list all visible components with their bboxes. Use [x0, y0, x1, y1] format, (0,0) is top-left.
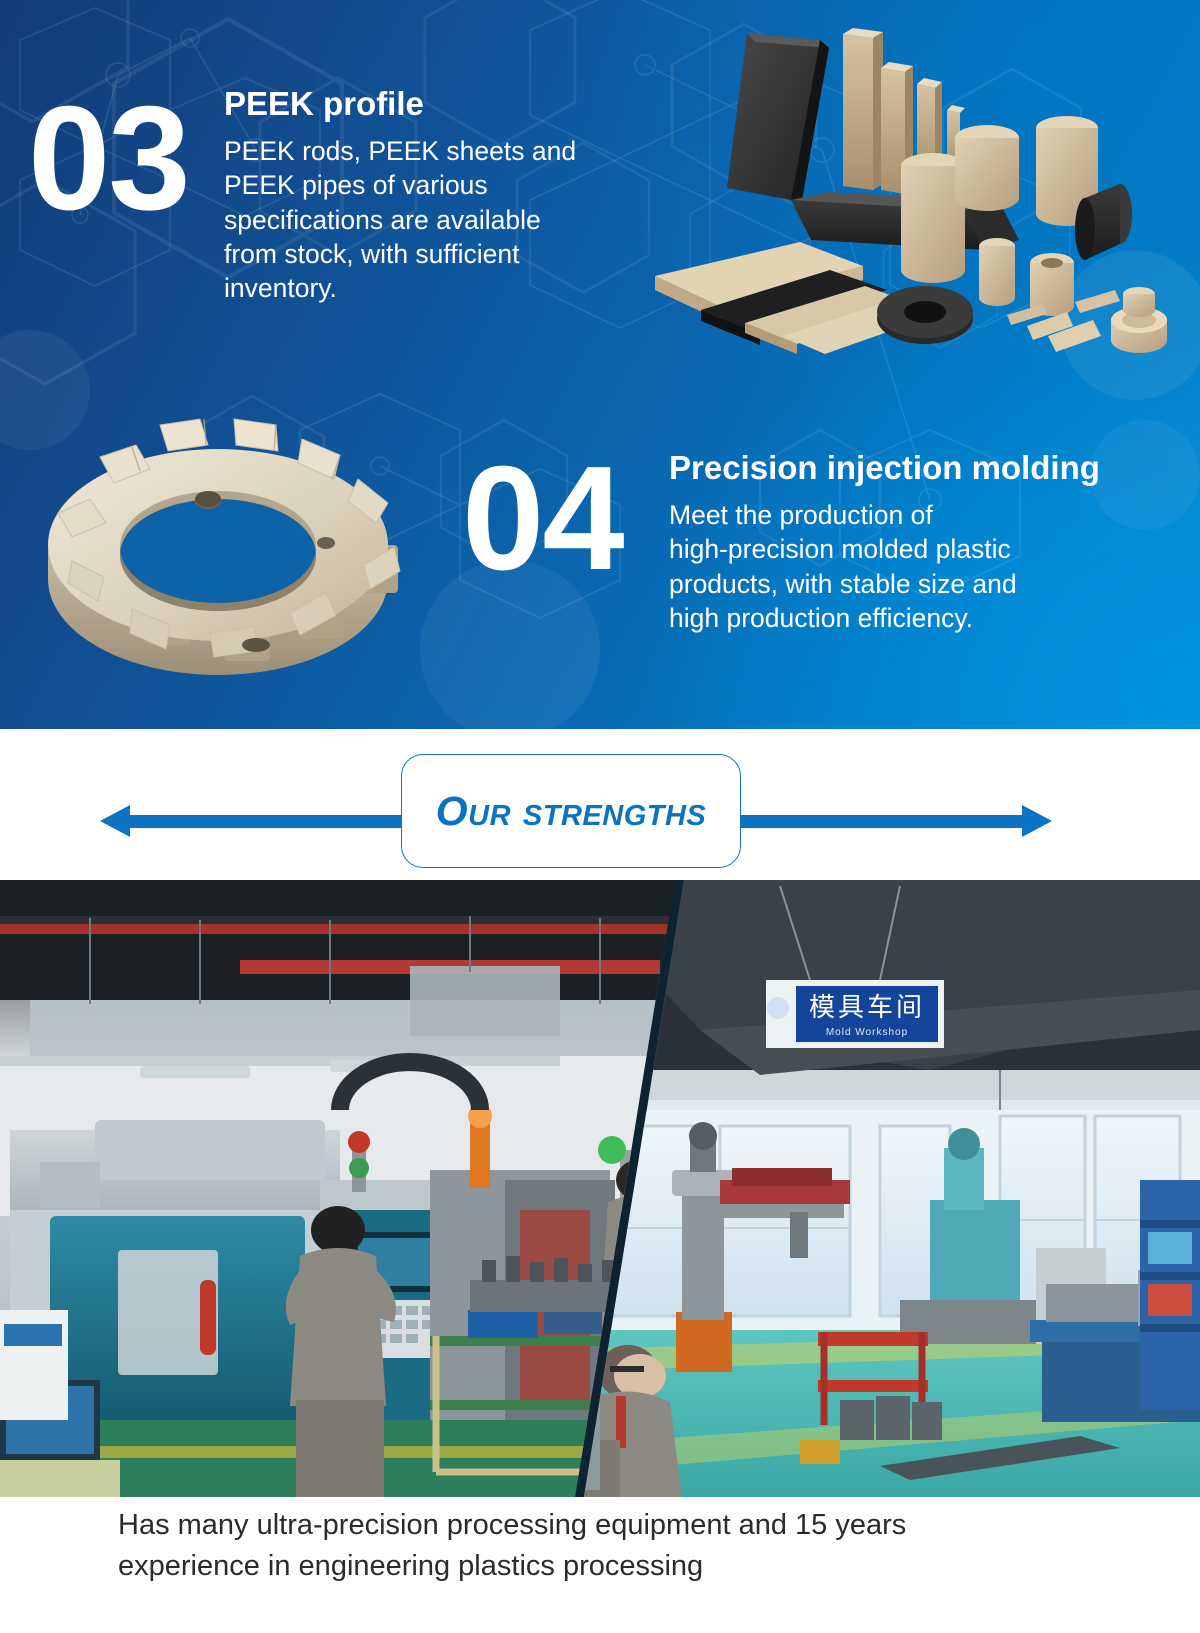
strengths-label-box: Our strengths: [401, 754, 741, 868]
hero-block-body: PEEK rods, PEEK sheets and PEEK pipes of…: [224, 134, 654, 306]
hero-block-03: 03: [28, 88, 189, 230]
svg-text:模具车间: 模具车间: [809, 992, 925, 1022]
arrow-bar-right: [730, 815, 1022, 828]
hero-block-title: Precision injection molding: [669, 450, 1169, 486]
hero-block-number: 03: [28, 88, 189, 230]
our-strengths-banner: Our strengths: [0, 729, 1200, 880]
caption-line: Has many ultra-precision processing equi…: [118, 1505, 1118, 1546]
hero-body-line: Meet the production of: [669, 498, 1169, 532]
hero-block-04: 04: [462, 448, 623, 590]
peek-gear-ring-image: [28, 395, 448, 680]
hero-block-body: Meet the production of high-precision mo…: [669, 498, 1169, 636]
hero-block-number: 04: [462, 448, 623, 590]
hero-body-line: inventory.: [224, 271, 654, 305]
hero-body-line: PEEK pipes of various: [224, 168, 654, 202]
hero-section: 03 PEEK profile PEEK rods, PEEK sheets a…: [0, 0, 1200, 729]
svg-text:Mold Workshop: Mold Workshop: [826, 1027, 908, 1038]
bottom-caption: Has many ultra-precision processing equi…: [118, 1505, 1118, 1587]
hero-body-line: specifications are available: [224, 203, 654, 237]
peek-stock-shapes-image: [615, 18, 1185, 368]
caption-line: experience in engineering plastics proce…: [118, 1546, 1118, 1587]
hero-body-line: PEEK rods, PEEK sheets and: [224, 134, 654, 168]
arrow-right-icon: [1022, 805, 1052, 837]
strengths-label: Our strengths: [436, 788, 707, 835]
hero-body-line: high production efficiency.: [669, 601, 1169, 635]
hero-block-title: PEEK profile: [224, 86, 654, 122]
workshop-photo-pair: 模具车间 Mold Workshop: [0, 880, 1200, 1497]
hero-block-03-text: PEEK profile PEEK rods, PEEK sheets and …: [224, 86, 654, 306]
arrow-bar-left: [126, 815, 412, 828]
hero-body-line: high-precision molded plastic: [669, 532, 1169, 566]
hero-block-04-text: Precision injection molding Meet the pro…: [669, 450, 1169, 635]
hero-body-line: from stock, with sufficient: [224, 237, 654, 271]
hero-body-line: products, with stable size and: [669, 567, 1169, 601]
page-root: 03 PEEK profile PEEK rods, PEEK sheets a…: [0, 0, 1200, 1633]
